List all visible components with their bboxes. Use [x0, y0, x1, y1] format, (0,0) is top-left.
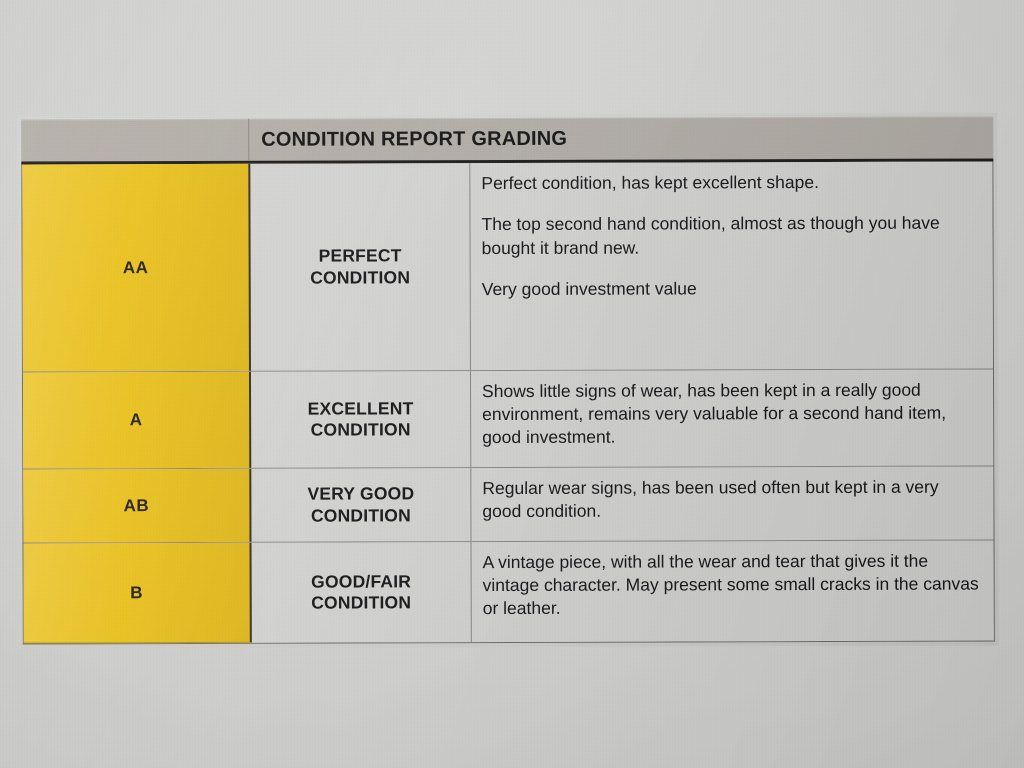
description-paragraph: Perfect condition, has kept excellent sh…	[481, 171, 979, 196]
condition-report-grading-table: CONDITION REPORT GRADING AA PERFECT COND…	[21, 116, 995, 644]
description-paragraph: Regular wear signs, has been used often …	[482, 476, 980, 524]
condition-label-cell: PERFECT CONDITION	[250, 163, 471, 371]
table-row: AA PERFECT CONDITION Perfect condition, …	[22, 161, 993, 372]
condition-label-cell: GOOD/FAIR CONDITION	[252, 542, 472, 643]
header-spacer-cell	[21, 119, 249, 162]
table-row: B GOOD/FAIR CONDITION A vintage piece, w…	[24, 540, 994, 643]
table-row: AB VERY GOOD CONDITION Regular wear sign…	[23, 466, 993, 543]
condition-label-cell: EXCELLENT CONDITION	[251, 371, 471, 468]
grade-code-cell: A	[23, 372, 251, 469]
description-cell: Regular wear signs, has been used often …	[471, 466, 993, 541]
table-row: A EXCELLENT CONDITION Shows little signs…	[23, 369, 993, 469]
condition-label-line-1: VERY GOOD	[307, 483, 414, 505]
description-cell: Perfect condition, has kept excellent sh…	[470, 161, 993, 370]
description-cell: Shows little signs of wear, has been kep…	[471, 369, 993, 467]
description-paragraph: Very good investment value	[482, 277, 980, 302]
condition-label-line-1: GOOD/FAIR	[311, 571, 411, 593]
grade-code-cell: AA	[22, 164, 251, 372]
grade-code-cell: B	[24, 543, 252, 644]
condition-label-line-2: CONDITION	[311, 592, 411, 614]
grade-code-cell: AB	[23, 469, 251, 543]
condition-label-line-2: CONDITION	[311, 419, 411, 441]
description-paragraph: A vintage piece, with all the wear and t…	[483, 550, 981, 621]
description-paragraph: Shows little signs of wear, has been kep…	[482, 379, 980, 450]
table-title: CONDITION REPORT GRADING	[249, 116, 993, 160]
description-cell: A vintage piece, with all the wear and t…	[472, 540, 994, 642]
photographed-document-scene: CONDITION REPORT GRADING AA PERFECT COND…	[0, 0, 1024, 768]
condition-label-cell: VERY GOOD CONDITION	[251, 468, 471, 542]
description-paragraph: The top second hand condition, almost as…	[481, 212, 979, 260]
table-body: AA PERFECT CONDITION Perfect condition, …	[21, 161, 995, 644]
table-header-row: CONDITION REPORT GRADING	[21, 116, 993, 164]
condition-label-line-2: CONDITION	[311, 505, 411, 527]
condition-label-line-1: EXCELLENT	[308, 398, 414, 420]
condition-label-line-2: CONDITION	[310, 267, 410, 289]
condition-label-line-1: PERFECT	[319, 245, 402, 267]
